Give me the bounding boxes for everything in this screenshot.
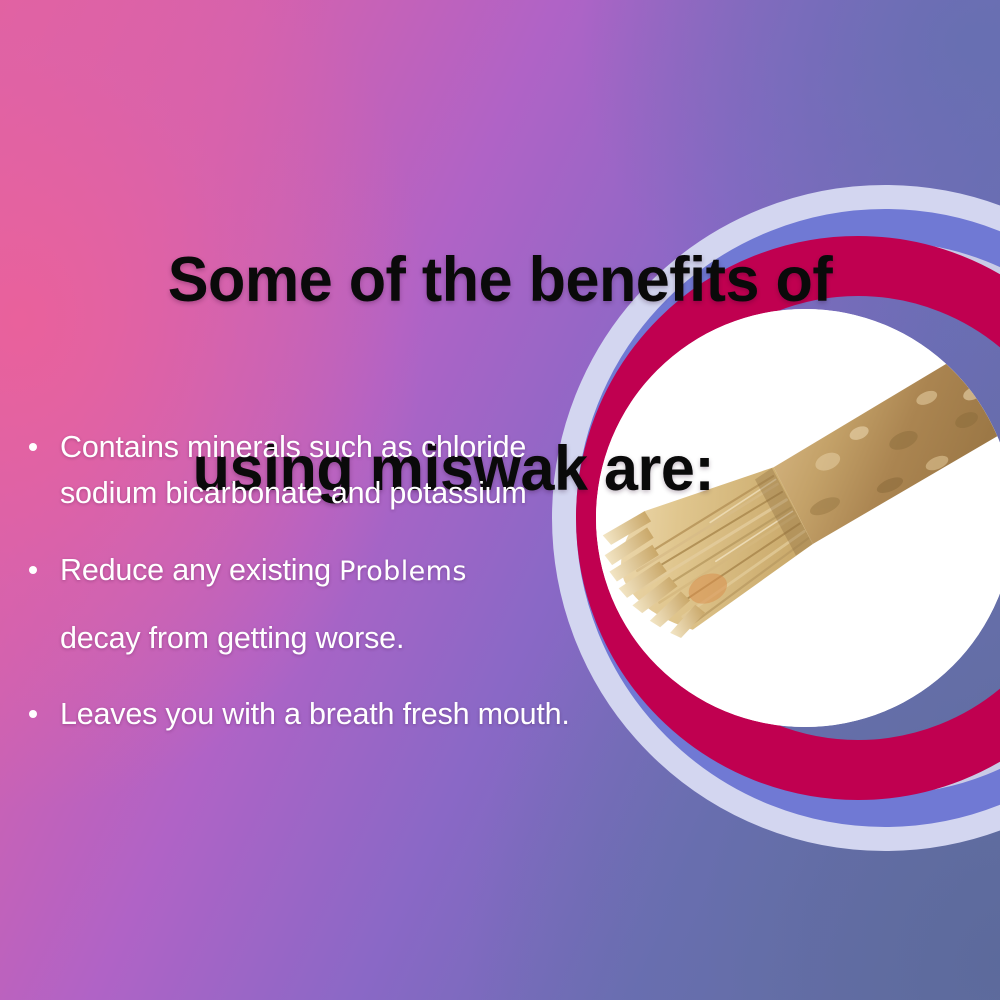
benefit-2-text-a: Reduce any existing [60, 553, 339, 587]
benefit-2-text-b: Problems [339, 556, 467, 587]
poster-canvas: Some of the benefits of using miswak are… [0, 0, 1000, 1000]
benefits-list: Contains minerals such as chloride sodiu… [18, 424, 708, 738]
bullet-dot-icon [29, 566, 37, 574]
bullet-dot-icon [29, 443, 37, 451]
benefit-2-line-1: Reduce any existing Problems [60, 547, 708, 593]
benefit-item-1: Contains minerals such as chloride sodiu… [18, 424, 708, 517]
bullet-dot-icon [29, 710, 37, 718]
benefit-3-line-1: Leaves you with a breath fresh mouth. [60, 691, 708, 737]
benefit-2-line-2: decay from getting worse. [60, 615, 708, 661]
benefit-item-2: Reduce any existing Problems decay from … [18, 547, 708, 662]
benefit-1-line-2: sodium bicarbonate and potassium [60, 470, 708, 516]
benefit-item-3: Leaves you with a breath fresh mouth. [18, 691, 708, 737]
benefit-1-line-1: Contains minerals such as chloride [60, 424, 708, 470]
poster-title-line-1: Some of the benefits of [54, 233, 946, 328]
